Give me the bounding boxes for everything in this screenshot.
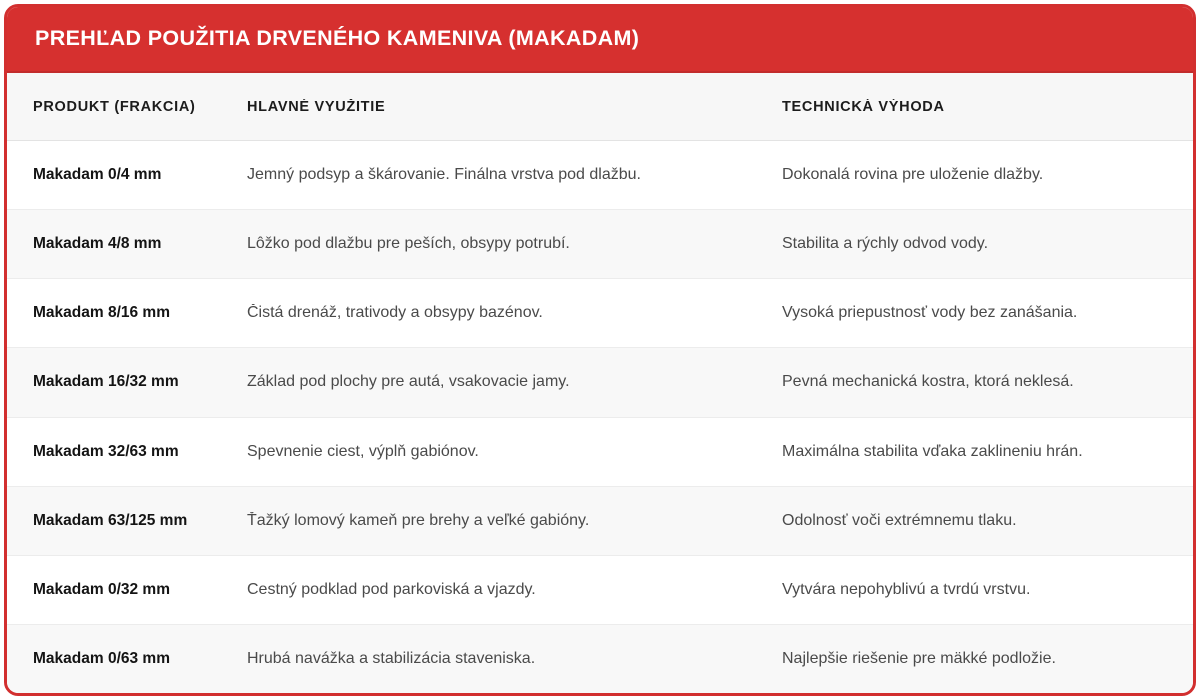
table-row: Makadam 0/32 mm Cestný podklad pod parko… xyxy=(7,556,1193,625)
benefit-text: Vysoká priepustnosť vody bez zanášania. xyxy=(782,304,1077,321)
cell-benefit: Najlepšie riešenie pre mäkké podložie. xyxy=(782,650,1193,668)
cell-benefit: Dokonalá rovina pre uloženie dlažby. xyxy=(782,166,1193,184)
product-name: Makadam 4/8 mm xyxy=(33,235,161,252)
cell-usage: Spevnenie ciest, výplň gabiónov. xyxy=(247,443,782,461)
usage-text: Spevnenie ciest, výplň gabiónov. xyxy=(247,443,479,460)
benefit-text: Najlepšie riešenie pre mäkké podložie. xyxy=(782,650,1056,667)
column-header-product-label: PRODUKT (FRAKCIA) xyxy=(33,99,196,115)
product-name: Makadam 8/16 mm xyxy=(33,304,170,321)
table-row: Makadam 8/16 mm Čistá drenáž, trativody … xyxy=(7,279,1193,348)
cell-product: Makadam 0/4 mm xyxy=(7,166,247,184)
cell-product: Makadam 32/63 mm xyxy=(7,443,247,461)
table-row: Makadam 4/8 mm Lôžko pod dlažbu pre peší… xyxy=(7,210,1193,279)
table-row: Makadam 16/32 mm Základ pod plochy pre a… xyxy=(7,348,1193,417)
product-name: Makadam 0/4 mm xyxy=(33,166,161,183)
cell-benefit: Stabilita a rýchly odvod vody. xyxy=(782,235,1193,253)
usage-text: Cestný podklad pod parkoviská a vjazdy. xyxy=(247,581,536,598)
cell-product: Makadam 8/16 mm xyxy=(7,304,247,322)
table-row: Makadam 63/125 mm Ťažký lomový kameň pre… xyxy=(7,487,1193,556)
cell-usage: Hrubá navážka a stabilizácia staveniska. xyxy=(247,650,782,668)
benefit-text: Dokonalá rovina pre uloženie dlažby. xyxy=(782,166,1043,183)
product-name: Makadam 0/63 mm xyxy=(33,650,170,667)
usage-text: Základ pod plochy pre autá, vsakovacie j… xyxy=(247,373,570,390)
cell-usage: Ťažký lomový kameň pre brehy a veľké gab… xyxy=(247,512,782,530)
table-row: Makadam 32/63 mm Spevnenie ciest, výplň … xyxy=(7,418,1193,487)
product-name: Makadam 16/32 mm xyxy=(33,373,179,390)
cell-product: Makadam 0/32 mm xyxy=(7,581,247,599)
benefit-text: Pevná mechanická kostra, ktorá neklesá. xyxy=(782,373,1074,390)
product-name: Makadam 63/125 mm xyxy=(33,512,187,529)
column-header-usage-label: HLAVNÉ VYUŽITIE xyxy=(247,99,385,115)
cell-benefit: Odolnosť voči extrémnemu tlaku. xyxy=(782,512,1193,530)
product-name: Makadam 32/63 mm xyxy=(33,443,179,460)
benefit-text: Odolnosť voči extrémnemu tlaku. xyxy=(782,512,1017,529)
usage-text: Ťažký lomový kameň pre brehy a veľké gab… xyxy=(247,512,589,529)
cell-usage: Cestný podklad pod parkoviská a vjazdy. xyxy=(247,581,782,599)
cell-benefit: Pevná mechanická kostra, ktorá neklesá. xyxy=(782,373,1193,391)
column-header-benefit-label: TECHNICKÁ VÝHODA xyxy=(782,99,945,115)
cell-usage: Lôžko pod dlažbu pre peších, obsypy potr… xyxy=(247,235,782,253)
benefit-text: Stabilita a rýchly odvod vody. xyxy=(782,235,988,252)
column-header-benefit: TECHNICKÁ VÝHODA xyxy=(782,99,1193,115)
column-header-product: PRODUKT (FRAKCIA) xyxy=(7,99,247,115)
usage-text: Lôžko pod dlažbu pre peších, obsypy potr… xyxy=(247,235,570,252)
page-title: PREHĽAD POUŽITIA DRVENÉHO KAMENIVA (MAKA… xyxy=(35,27,639,51)
cell-product: Makadam 4/8 mm xyxy=(7,235,247,253)
cell-benefit: Vysoká priepustnosť vody bez zanášania. xyxy=(782,304,1193,322)
cell-usage: Základ pod plochy pre autá, vsakovacie j… xyxy=(247,373,782,391)
cell-benefit: Maximálna stabilita vďaka zaklineniu hrá… xyxy=(782,443,1193,461)
cell-product: Makadam 63/125 mm xyxy=(7,512,247,530)
column-header-usage: HLAVNÉ VYUŽITIE xyxy=(247,99,782,115)
benefit-text: Vytvára nepohyblivú a tvrdú vrstvu. xyxy=(782,581,1030,598)
cell-usage: Jemný podsyp a škárovanie. Finálna vrstv… xyxy=(247,166,782,184)
benefit-text: Maximálna stabilita vďaka zaklineniu hrá… xyxy=(782,443,1083,460)
table-title-bar: PREHĽAD POUŽITIA DRVENÉHO KAMENIVA (MAKA… xyxy=(7,7,1193,73)
table-row: Makadam 0/63 mm Hrubá navážka a stabiliz… xyxy=(7,625,1193,693)
table-row: Makadam 0/4 mm Jemný podsyp a škárovanie… xyxy=(7,141,1193,210)
usage-text: Jemný podsyp a škárovanie. Finálna vrstv… xyxy=(247,166,641,183)
cell-usage: Čistá drenáž, trativody a obsypy bazénov… xyxy=(247,304,782,322)
cell-product: Makadam 16/32 mm xyxy=(7,373,247,391)
cell-product: Makadam 0/63 mm xyxy=(7,650,247,668)
usage-text: Čistá drenáž, trativody a obsypy bazénov… xyxy=(247,304,543,321)
cell-benefit: Vytvára nepohyblivú a tvrdú vrstvu. xyxy=(782,581,1193,599)
usage-text: Hrubá navážka a stabilizácia staveniska. xyxy=(247,650,535,667)
product-name: Makadam 0/32 mm xyxy=(33,581,170,598)
makadam-overview-table: PREHĽAD POUŽITIA DRVENÉHO KAMENIVA (MAKA… xyxy=(4,4,1196,696)
table-column-header-row: PRODUKT (FRAKCIA) HLAVNÉ VYUŽITIE TECHNI… xyxy=(7,73,1193,141)
table-body: Makadam 0/4 mm Jemný podsyp a škárovanie… xyxy=(7,141,1193,693)
